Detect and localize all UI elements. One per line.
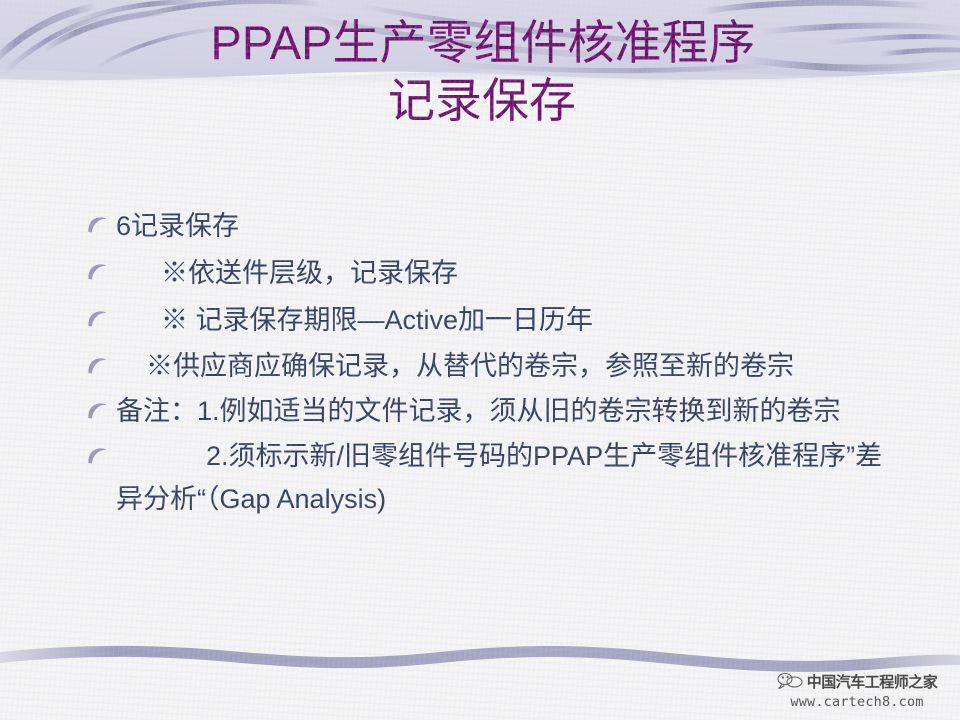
body-content-list: 6记录保存 ※依送件层级，记录保存 ※ 记录保存期限—Active加一日历年: [84, 204, 904, 523]
crescent-hook-bullet-icon: [86, 215, 108, 235]
list-item: 6记录保存: [84, 204, 904, 249]
slide-canvas: PPAP生产零组件核准程序 记录保存 6记录保存 ※依送件层级，记录保存: [0, 0, 960, 720]
watermark-brand-row: 中国汽车工程师之家: [768, 669, 946, 693]
list-item-text: 6记录保存: [116, 204, 904, 249]
list-item-text: ※依送件层级，记录保存: [116, 251, 904, 296]
list-item: ※依送件层级，记录保存: [84, 251, 904, 296]
title-line-1: PPAP生产零组件核准程序: [0, 14, 960, 72]
watermark: 中国汽车工程师之家 www.cartech8.com: [768, 669, 946, 710]
slide-title: PPAP生产零组件核准程序 记录保存: [0, 14, 960, 130]
watermark-url: www.cartech8.com: [768, 694, 946, 710]
crescent-hook-bullet-icon: [86, 401, 108, 421]
crescent-hook-bullet-icon: [86, 309, 108, 329]
title-line-2: 记录保存: [0, 72, 960, 130]
speech-bubble-icon: [777, 671, 803, 691]
crescent-hook-bullet-icon: [86, 446, 108, 466]
list-item-text: 备注：1.例如适当的文件记录，须从旧的卷宗转换到新的卷宗: [116, 390, 904, 433]
list-item: 2.须标示新/旧零组件号码的PPAP生产零组件核准程序”差异分析“（Gap An…: [84, 435, 904, 521]
list-item-text: 2.须标示新/旧零组件号码的PPAP生产零组件核准程序”差异分析“（Gap An…: [116, 435, 904, 521]
list-item: ※ 记录保存期限—Active加一日历年: [84, 298, 904, 343]
crescent-hook-bullet-icon: [86, 356, 108, 376]
list-item: 备注：1.例如适当的文件记录，须从旧的卷宗转换到新的卷宗: [84, 390, 904, 433]
crescent-hook-bullet-icon: [86, 262, 108, 282]
list-item: ※供应商应确保记录，从替代的卷宗，参照至新的卷宗: [84, 345, 904, 388]
list-item-text: ※ 记录保存期限—Active加一日历年: [116, 298, 904, 343]
watermark-brand-text: 中国汽车工程师之家: [807, 671, 938, 692]
list-item-text: ※供应商应确保记录，从替代的卷宗，参照至新的卷宗: [116, 345, 904, 388]
